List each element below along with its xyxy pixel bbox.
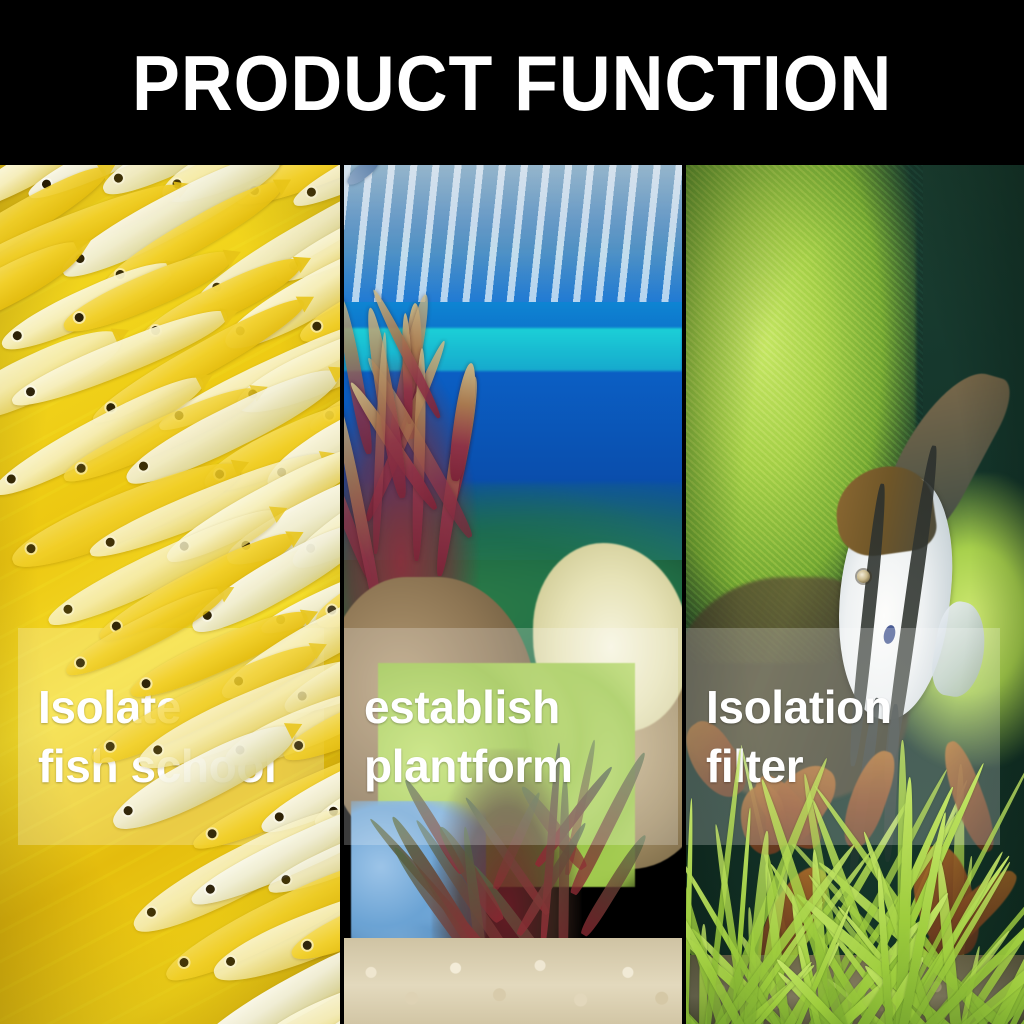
fish-eye: [75, 462, 87, 474]
fish-eye: [104, 537, 116, 549]
fish-eye: [25, 385, 37, 397]
coral-reef-aquarium-photo: [344, 165, 682, 1024]
fish-eye: [280, 874, 292, 886]
panel-strip: Isolate fish school: [0, 165, 1024, 1024]
fish-eye: [141, 678, 153, 690]
fish-eye: [75, 656, 87, 668]
header-banner: PRODUCT FUNCTION: [0, 0, 1024, 165]
caption-line-1: Isolation: [706, 678, 1000, 737]
caption-line-1: establish: [364, 678, 678, 737]
fish-eye: [12, 329, 24, 341]
caption-box-establish-plantform: establish plantform: [344, 628, 678, 845]
panel-establish-plantform: establish plantform: [344, 165, 682, 1024]
fish-eye: [292, 739, 304, 751]
panel-isolate-fish-school: Isolate fish school: [0, 165, 340, 1024]
fish-eye: [145, 906, 157, 918]
fish-eye: [225, 956, 237, 968]
fish-eye: [25, 542, 37, 554]
page-title: PRODUCT FUNCTION: [132, 44, 892, 122]
fish-eye: [138, 460, 150, 472]
caption-line-2: plantform: [364, 737, 678, 796]
fish-eye: [311, 321, 323, 333]
planted-aquarium-angelfish-photo: [686, 165, 1024, 1024]
fish-eye: [73, 312, 85, 324]
product-function-infographic: PRODUCT FUNCTION Isolate fish school: [0, 0, 1024, 1024]
yellow-fish-school-photo: [0, 165, 340, 1024]
caption-line-2: filter: [706, 737, 1000, 796]
fish-eye: [105, 740, 117, 752]
fish-eye: [305, 185, 317, 197]
sand-gravel-substrate: [344, 938, 682, 1024]
fish-eye: [206, 827, 218, 839]
fish-eye: [204, 883, 216, 895]
fish-eye: [300, 939, 312, 951]
fish-eye: [178, 956, 190, 968]
fish-eye: [62, 603, 74, 615]
panel-isolation-filter: Isolation filter: [686, 165, 1024, 1024]
water-surface-ripples: [344, 165, 682, 302]
fish-eye: [152, 743, 164, 755]
fish-eye: [122, 804, 134, 816]
fish-eye: [273, 811, 285, 823]
fish-eye: [6, 473, 18, 485]
